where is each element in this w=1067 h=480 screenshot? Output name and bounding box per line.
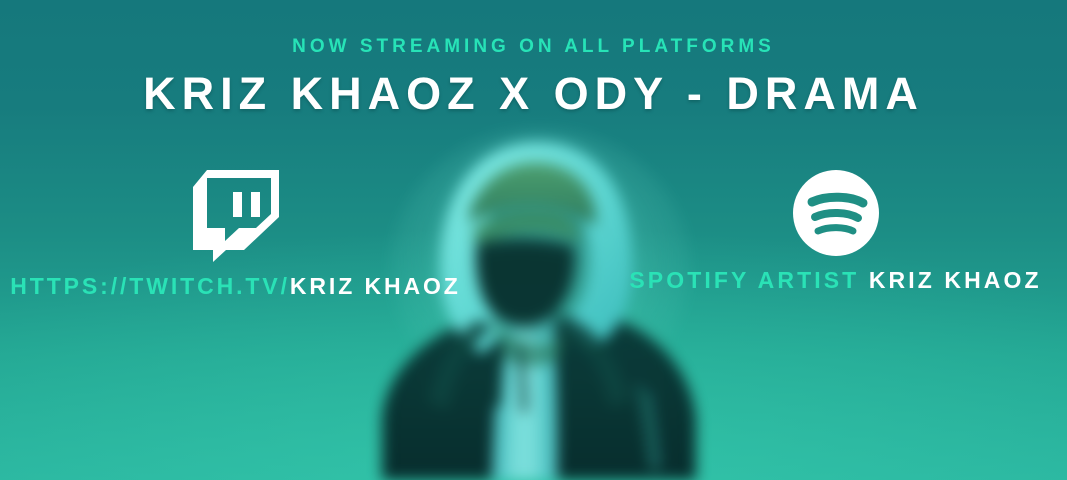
spotify-link[interactable]: SPOTIFY ARTIST KRIZ KHAOZ xyxy=(608,269,1063,292)
twitch-logo-icon[interactable] xyxy=(193,170,279,262)
spotify-block[interactable]: SPOTIFY ARTIST KRIZ KHAOZ xyxy=(608,170,1063,292)
spotify-label-prefix: SPOTIFY ARTIST xyxy=(629,267,868,293)
twitch-handle: KRIZ KHAOZ xyxy=(290,273,461,299)
page-title: KRIZ KHAOZ X ODY - DRAMA xyxy=(0,68,1067,120)
spotify-logo-icon[interactable] xyxy=(793,170,879,256)
twitch-link[interactable]: HTTPS://TWITCH.TV/KRIZ KHAOZ xyxy=(8,275,463,298)
promo-banner: NOW STREAMING ON ALL PLATFORMS KRIZ KHAO… xyxy=(0,0,1067,480)
eyebrow-text: NOW STREAMING ON ALL PLATFORMS xyxy=(0,36,1067,58)
twitch-block[interactable]: HTTPS://TWITCH.TV/KRIZ KHAOZ xyxy=(8,170,463,298)
spotify-handle: KRIZ KHAOZ xyxy=(869,267,1042,293)
twitch-url-prefix: HTTPS://TWITCH.TV/ xyxy=(10,273,290,299)
